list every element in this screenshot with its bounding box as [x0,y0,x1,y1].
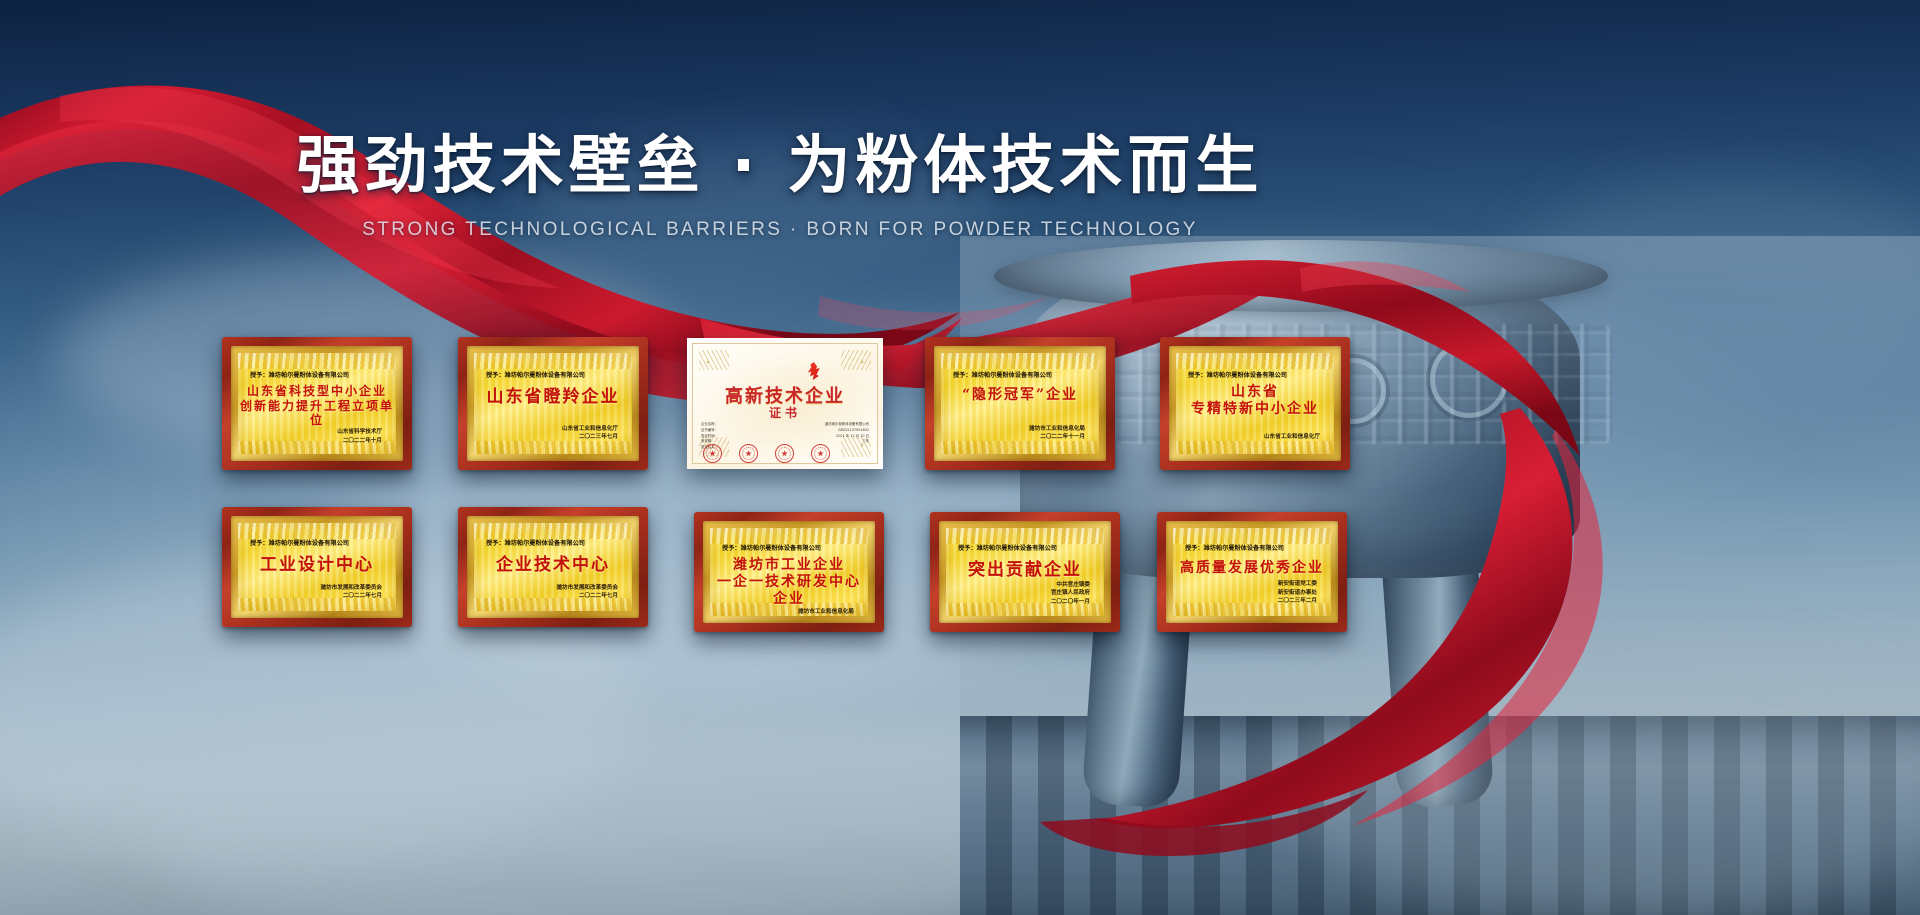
certificate-seals [703,444,867,463]
plaque-award-title: 突出贡献企业 [946,560,1104,581]
plaque-gold-bevel: 授予：潍坊帕尔曼粉体设备有限公司突出贡献企业中共官庄镇委官庄镇人民政府二〇二〇年… [939,521,1111,623]
plaque-award-title: 潍坊市工业企业一企一技术研发中心企业 [710,557,868,608]
plaque-issuer-line: 潍坊市工业和信息化局 [710,608,854,616]
spacer [1176,418,1334,433]
spacer [474,408,632,425]
plaque-grant-line: 授予：潍坊帕尔曼粉体设备有限公司 [250,370,396,379]
plaque-shandong-gazelle[interactable]: 授予：潍坊帕尔曼粉体设备有限公司山东省瞪羚企业山东省工业和信息化厅二〇二三年七月 [458,337,648,470]
plaque-face: 授予：潍坊帕尔曼粉体设备有限公司工业设计中心潍坊市发展和改革委员会二〇二二年七月 [238,523,396,611]
spacer [474,576,632,584]
plaque-award-title: 山东省科技型中小企业创新能力提升工程立项单位 [238,384,396,428]
plaque-gold-bevel: 授予：潍坊帕尔曼粉体设备有限公司山东省科技型中小企业创新能力提升工程立项单位山东… [231,346,403,461]
plaque-face: 授予：潍坊帕尔曼粉体设备有限公司高质量发展优秀企业新安街道党工委新安街道办事处二… [1173,528,1331,616]
ribbon-highlight [1300,261,1470,292]
plaque-issuer-block: 新安街道党工委新安街道办事处二〇二三年二月 [1173,580,1317,606]
plaque-issuer-line: 山东省工业和信息化厅 [1176,433,1320,442]
page-title: 强劲技术壁垒 · 为粉体技术而生 [0,131,1560,200]
red-seal-icon [703,444,722,463]
page-subtitle: STRONG TECHNOLOGICAL BARRIERS · BORN FOR… [0,219,1560,241]
plaque-issuer-line: 山东省工业和信息化厅 [474,425,618,434]
ding-swirl [1430,340,1508,418]
plaque-gold-bevel: 授予：潍坊帕尔曼粉体设备有限公司企业技术中心潍坊市发展和改革委员会二〇二二年七月 [467,516,639,618]
plaque-award-line: 创新能力提升工程立项单位 [238,399,396,428]
plaque-award-title: 企业技术中心 [474,555,632,576]
ribbon-highlight [1352,430,1603,826]
plaque-award-line: 突出贡献企业 [946,560,1104,581]
plaque-face: 授予：潍坊帕尔曼粉体设备有限公司山东省瞪羚企业山东省工业和信息化厅二〇二三年七月 [474,353,632,454]
plaque-invisible-champion[interactable]: 授予：潍坊帕尔曼粉体设备有限公司“隐形冠军”企业潍坊市工业和信息化局二〇二二年十… [925,337,1115,470]
plaque-award-line: 一企一技术研发中心企业 [710,574,868,608]
plaque-issuer-line: 新安街道党工委 [1173,580,1317,589]
plaque-issue-date: 二〇二二年十月 [238,437,382,446]
plaque-issuer-line: 潍坊市工业和信息化局 [941,425,1085,434]
plaque-face: 授予：潍坊帕尔曼粉体设备有限公司潍坊市工业企业一企一技术研发中心企业潍坊市工业和… [710,528,868,616]
plaque-face: 授予：潍坊帕尔曼粉体设备有限公司山东省专精特新中小企业山东省工业和信息化厅 [1176,353,1334,454]
headline-block: 强劲技术壁垒 · 为粉体技术而生 STRONG TECHNOLOGICAL BA… [0,131,1560,241]
spacer [238,576,396,584]
cloud-haze [150,700,1050,915]
plaque-issuer-block: 潍坊市发展和改革委员会二〇二二年七月 [474,584,618,601]
plaque-award-line: 山东省 [1176,384,1334,401]
plaque-award-title: 工业设计中心 [238,555,396,576]
plaque-gold-bevel: 授予：潍坊帕尔曼粉体设备有限公司高质量发展优秀企业新安街道党工委新安街道办事处二… [1166,521,1338,623]
plaque-issue-date: 二〇二二年十一月 [941,433,1085,442]
plaque-award-title: 山东省瞪羚企业 [474,387,632,408]
cloud-haze [1500,180,1920,400]
plaque-issuer-line: 中共官庄镇委 [946,581,1090,590]
plaque-high-quality-development[interactable]: 授予：潍坊帕尔曼粉体设备有限公司高质量发展优秀企业新安街道党工委新安街道办事处二… [1157,512,1347,632]
plaque-face: 授予：潍坊帕尔曼粉体设备有限公司“隐形冠军”企业潍坊市工业和信息化局二〇二二年十… [941,353,1099,454]
plaque-gold-bevel: 授予：潍坊帕尔曼粉体设备有限公司“隐形冠军”企业潍坊市工业和信息化局二〇二二年十… [934,346,1106,461]
plaque-award-title: “隐形冠军”企业 [941,387,1099,404]
plaque-award-line: 企业技术中心 [474,555,632,576]
ding-leg [1381,553,1494,809]
plaque-issuer-line: 山东省科学技术厅 [238,428,382,437]
plaque-grant-line: 授予：潍坊帕尔曼粉体设备有限公司 [486,538,632,547]
plaque-issuer-line: 潍坊市发展和改革委员会 [474,584,618,593]
plaque-issue-date: 二〇二二年七月 [474,592,618,601]
plaque-issuer-block: 潍坊市发展和改革委员会二〇二二年七月 [238,584,382,601]
plaque-specialized-sme[interactable]: 授予：潍坊帕尔曼粉体设备有限公司山东省专精特新中小企业山东省工业和信息化厅 [1160,337,1350,470]
plaque-gold-bevel: 授予：潍坊帕尔曼粉体设备有限公司工业设计中心潍坊市发展和改革委员会二〇二二年七月 [231,516,403,618]
plaque-award-line: 山东省科技型中小企业 [238,384,396,399]
corner-ornament-icon [699,350,729,370]
plaque-issue-date: 二〇二三年七月 [474,433,618,442]
plaque-award-line: 山东省瞪羚企业 [474,387,632,408]
plaque-issue-date: 二〇二三年二月 [1173,597,1317,606]
plaque-issue-date: 二〇二〇年一月 [946,598,1090,607]
plaque-award-line: 专精特新中小企业 [1176,401,1334,418]
plaque-award-title: 高质量发展优秀企业 [1173,560,1331,577]
plaque-issuer-block: 山东省科学技术厅二〇二二年十月 [238,428,382,445]
high-tech-enterprise-certificate[interactable]: 高新技术企业 证书 企业名称： 潍坊帕尔曼粉体设备有限公司 证书编号： GR20… [687,338,883,469]
plaque-issuer-block: 潍坊市工业和信息化局二〇二二年十一月 [941,425,1085,442]
cloud-haze [1280,640,1920,915]
plaque-award-line: “隐形冠军”企业 [941,387,1099,404]
corner-ornament-icon [841,350,871,370]
ding-base [960,716,1920,915]
plaque-grant-line: 授予：潍坊帕尔曼粉体设备有限公司 [486,370,632,379]
plaque-award-title: 山东省专精特新中小企业 [1176,384,1334,418]
red-seal-icon [775,444,794,463]
plaque-award-line: 潍坊市工业企业 [710,557,868,574]
plaque-grant-line: 授予：潍坊帕尔曼粉体设备有限公司 [1188,370,1334,379]
plaque-issuer-line: 新安街道办事处 [1173,589,1317,598]
plaque-weifang-rd-center[interactable]: 授予：潍坊帕尔曼粉体设备有限公司潍坊市工业企业一企一技术研发中心企业潍坊市工业和… [694,512,884,632]
plaque-issuer-block: 中共官庄镇委官庄镇人民政府二〇二〇年一月 [946,581,1090,607]
plaque-face: 授予：潍坊帕尔曼粉体设备有限公司山东省科技型中小企业创新能力提升工程立项单位山东… [238,353,396,454]
plaque-face: 授予：潍坊帕尔曼粉体设备有限公司突出贡献企业中共官庄镇委官庄镇人民政府二〇二〇年… [946,528,1104,616]
plaque-grant-line: 授予：潍坊帕尔曼粉体设备有限公司 [953,370,1099,379]
red-seal-icon [811,444,830,463]
honor-banner: 强劲技术壁垒 · 为粉体技术而生 STRONG TECHNOLOGICAL BA… [0,0,1920,915]
red-seal-icon [739,444,758,463]
plaque-face: 授予：潍坊帕尔曼粉体设备有限公司企业技术中心潍坊市发展和改革委员会二〇二二年七月 [474,523,632,611]
plaque-grant-line: 授予：潍坊帕尔曼粉体设备有限公司 [1185,543,1331,552]
plaque-grant-line: 授予：潍坊帕尔曼粉体设备有限公司 [958,543,1104,552]
spacer [941,404,1099,425]
plaque-award-line: 工业设计中心 [238,555,396,576]
plaque-issue-date: 二〇二二年七月 [238,592,382,601]
ribbon-highlight [818,296,1050,330]
plaque-enterprise-tech-center[interactable]: 授予：潍坊帕尔曼粉体设备有限公司企业技术中心潍坊市发展和改革委员会二〇二二年七月 [458,507,648,627]
plaque-issuer-block: 山东省工业和信息化厅二〇二三年七月 [474,425,618,442]
plaque-issuer-line: 官庄镇人民政府 [946,589,1090,598]
plaque-shandong-sci-tech-sme[interactable]: 授予：潍坊帕尔曼粉体设备有限公司山东省科技型中小企业创新能力提升工程立项单位山东… [222,337,412,470]
plaque-grant-line: 授予：潍坊帕尔曼粉体设备有限公司 [722,543,868,552]
plaque-gold-bevel: 授予：潍坊帕尔曼粉体设备有限公司山东省瞪羚企业山东省工业和信息化厅二〇二三年七月 [467,346,639,461]
plaque-outstanding-contribution[interactable]: 授予：潍坊帕尔曼粉体设备有限公司突出贡献企业中共官庄镇委官庄镇人民政府二〇二〇年… [930,512,1120,632]
plaque-grant-line: 授予：潍坊帕尔曼粉体设备有限公司 [250,538,396,547]
plaque-issuer-line: 潍坊市发展和改革委员会 [238,584,382,593]
plaque-issuer-block: 潍坊市工业和信息化局二〇二二年九月 [710,608,854,616]
ribbon-segment [1040,790,1368,856]
certificate-subtitle: 证书 [687,404,883,421]
ding-rim [994,240,1608,312]
plaque-gold-bevel: 授予：潍坊帕尔曼粉体设备有限公司山东省专精特新中小企业山东省工业和信息化厅 [1169,346,1341,461]
plaque-industrial-design-center[interactable]: 授予：潍坊帕尔曼粉体设备有限公司工业设计中心潍坊市发展和改革委员会二〇二二年七月 [222,507,412,627]
plaque-issuer-block: 山东省工业和信息化厅 [1176,433,1320,442]
plaque-award-line: 高质量发展优秀企业 [1173,560,1331,577]
plaque-gold-bevel: 授予：潍坊帕尔曼粉体设备有限公司潍坊市工业企业一企一技术研发中心企业潍坊市工业和… [703,521,875,623]
